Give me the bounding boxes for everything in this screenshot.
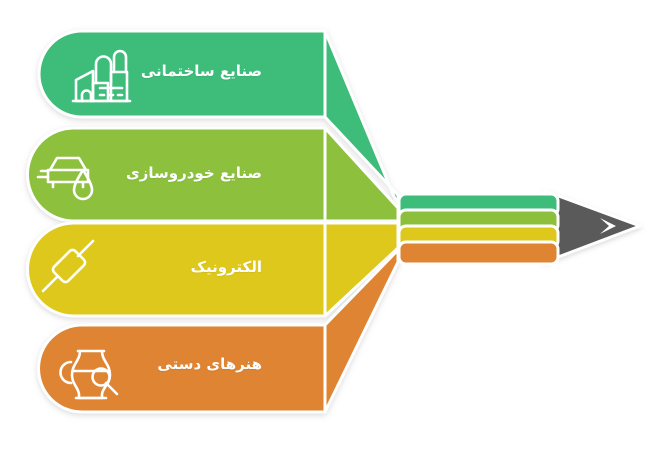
band-3-hit-area[interactable] <box>39 325 325 412</box>
band-2-hit-area[interactable] <box>28 223 325 316</box>
band-0-hit-area[interactable] <box>39 31 325 117</box>
band-1-hit-area[interactable] <box>28 128 325 221</box>
infographic-canvas: صنایع ساختمانی صنایع خودروسازی الکترونیک… <box>0 0 665 453</box>
pencil-shaft <box>399 194 558 264</box>
shaft-bar-3 <box>399 242 558 264</box>
